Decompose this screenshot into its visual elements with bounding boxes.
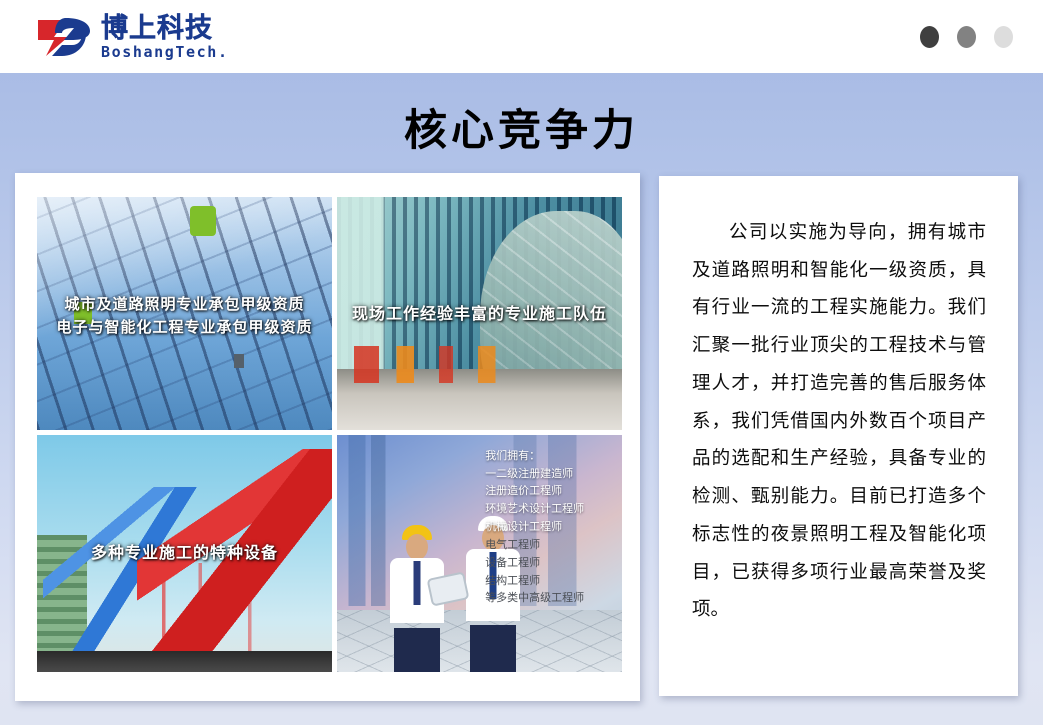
window-control-dots[interactable] [920, 26, 1013, 48]
boshang-logo-mark-icon [36, 14, 94, 60]
page-title: 核心竞争力 [0, 96, 1043, 158]
dot-medium-icon[interactable] [957, 26, 976, 48]
engineer-trousers [470, 625, 516, 672]
presentation-slide: 博上科技 BoshangTech. 核心竞争力 城市及道路照明专业承包甲级资质 … [0, 0, 1043, 725]
caption-city: 现场工作经验丰富的专业施工队伍 [337, 300, 622, 324]
page-header: 博上科技 BoshangTech. [0, 0, 1043, 73]
caption-facade: 城市及道路照明专业承包甲级资质 电子与智能化工程专业承包甲级资质 [37, 293, 332, 340]
qualification-list-title: 我们拥有： [485, 447, 622, 465]
qualification-list: 我们拥有： 一二级注册建造师 注册造价工程师 环境艺术设计工程师 机械设计工程师… [485, 447, 622, 607]
engineer-head [406, 534, 428, 560]
list-item: 设备工程师 [485, 554, 622, 572]
collage-cell-team[interactable]: 我们拥有： 一二级注册建造师 注册造价工程师 环境艺术设计工程师 机械设计工程师… [337, 435, 622, 672]
dot-dark-icon[interactable] [920, 26, 939, 48]
list-item: 注册造价工程师 [485, 482, 622, 500]
list-item: 机械设计工程师 [485, 518, 622, 536]
company-logo[interactable]: 博上科技 BoshangTech. [36, 13, 229, 61]
engineer-trousers [394, 628, 440, 672]
logo-text-en: BoshangTech. [101, 45, 229, 60]
list-item: 环境艺术设计工程师 [485, 500, 622, 518]
caption-facade-line2: 电子与智能化工程专业承包甲级资质 [37, 316, 332, 339]
city-machinery [354, 346, 531, 383]
description-paragraph: 公司以实施为导向，拥有城市及道路照明和智能化一级资质，具有行业一流的工程实施能力… [692, 214, 986, 629]
list-item: 等多类中高级工程师 [485, 589, 622, 607]
image-collage: 城市及道路照明专业承包甲级资质 电子与智能化工程专业承包甲级资质 现场工作经验丰… [37, 197, 617, 677]
engineer-tie [413, 561, 420, 605]
list-item: 电气工程师 [485, 536, 622, 554]
image-collage-card: 城市及道路照明专业承包甲级资质 电子与智能化工程专业承包甲级资质 现场工作经验丰… [15, 173, 640, 701]
collage-cell-lift[interactable]: 多种专业施工的特种设备 [37, 435, 332, 672]
collage-cell-city[interactable]: 现场工作经验丰富的专业施工队伍 [337, 197, 622, 430]
list-item: 结构工程师 [485, 572, 622, 590]
caption-facade-line1: 城市及道路照明专业承包甲级资质 [37, 293, 332, 316]
description-card: 公司以实施为导向，拥有城市及道路照明和智能化一级资质，具有行业一流的工程实施能力… [659, 176, 1018, 696]
lift-ground-plane [37, 651, 332, 672]
dot-light-icon[interactable] [994, 26, 1013, 48]
list-item: 一二级注册建造师 [485, 465, 622, 483]
caption-lift: 多种专业施工的特种设备 [37, 539, 332, 563]
logo-text-cn: 博上科技 [101, 15, 229, 42]
collage-cell-facade[interactable]: 城市及道路照明专业承包甲级资质 电子与智能化工程专业承包甲级资质 [37, 197, 332, 430]
